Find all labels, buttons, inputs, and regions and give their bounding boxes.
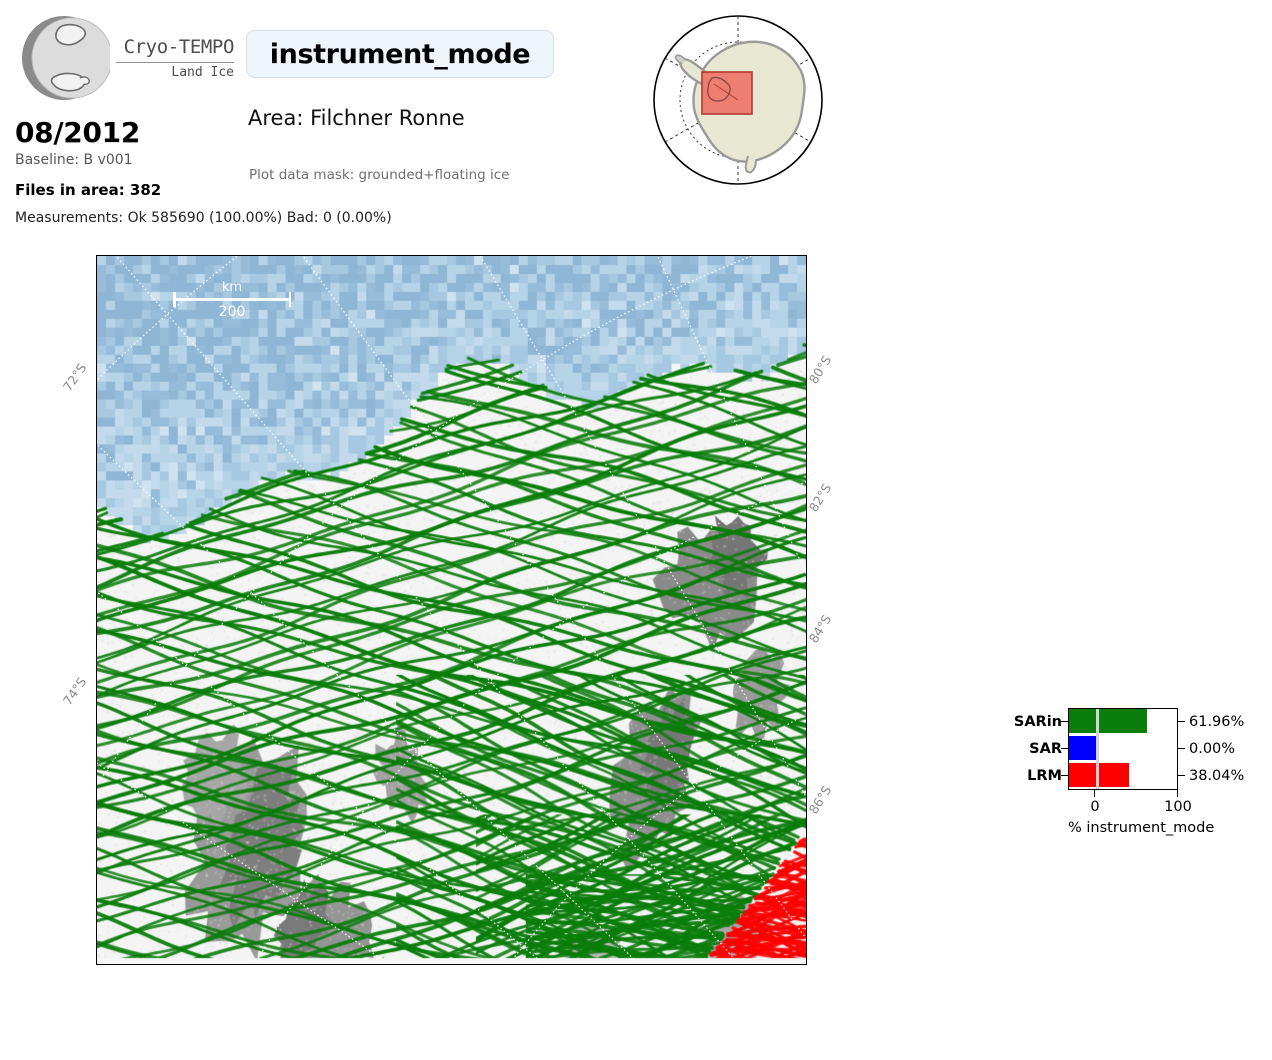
antarctica-locator-map xyxy=(652,14,824,186)
scale-unit-label: km xyxy=(222,280,242,295)
bar-swatch-1 xyxy=(1069,736,1096,760)
files-in-area-label: Files in area: 382 xyxy=(15,181,161,199)
logo-title: Cryo-TEMPO xyxy=(114,38,234,57)
logo-divider xyxy=(116,62,234,63)
xtick-label-0: 0 xyxy=(1090,799,1099,815)
map-scale-bar: km 200 xyxy=(173,284,291,301)
page-title-box: instrument_mode xyxy=(246,30,554,78)
lat-label-right-2: 84°S xyxy=(806,612,835,645)
ytick-right-2 xyxy=(1177,775,1185,776)
area-label: Area: Filchner Ronne xyxy=(248,106,465,130)
ytick-left-2 xyxy=(1061,775,1069,776)
scale-cap-right xyxy=(289,292,292,307)
bar-value-0: 61.96% xyxy=(1189,714,1244,730)
bar-2 xyxy=(1099,763,1129,787)
measurements-label: Measurements: Ok 585690 (100.00%) Bad: 0… xyxy=(15,210,392,226)
map-vector-layer xyxy=(97,256,806,964)
instrument-mode-bar-chart: SARin SAR LRM 61.96% 0.00% 38.04% 0 100 … xyxy=(996,700,1258,850)
scale-cap-left xyxy=(173,292,176,307)
bar-value-1: 0.00% xyxy=(1189,741,1235,757)
xtick-label-1: 100 xyxy=(1164,799,1192,815)
bar-0 xyxy=(1099,709,1147,733)
plot-data-mask-label: Plot data mask: grounded+floating ice xyxy=(249,167,509,183)
bar-swatch-0 xyxy=(1069,709,1096,733)
ytick-left-1 xyxy=(1061,748,1069,749)
cryo-tempo-logo: Cryo-TEMPO Land Ice xyxy=(18,12,228,107)
date-label: 08/2012 xyxy=(15,116,140,149)
page-title: instrument_mode xyxy=(270,39,530,70)
bar-chart-plot-area xyxy=(1068,708,1178,790)
graticule xyxy=(97,256,806,964)
bar-category-1: SAR xyxy=(992,741,1062,757)
bar-swatch-2 xyxy=(1069,763,1096,787)
bar-category-2: LRM xyxy=(992,768,1062,784)
ytick-right-0 xyxy=(1177,721,1185,722)
lat-label-left-1: 74°S xyxy=(60,675,90,708)
baseline-label: Baseline: B v001 xyxy=(15,152,133,168)
lat-label-left-0: 72°S xyxy=(60,361,90,394)
ytick-right-1 xyxy=(1177,748,1185,749)
bar-category-0: SARin xyxy=(992,714,1062,730)
globe-ice-icon xyxy=(18,12,110,104)
xtick-0 xyxy=(1094,790,1095,797)
xtick-1 xyxy=(1177,790,1178,797)
ytick-left-0 xyxy=(1061,721,1069,722)
scale-bar-line xyxy=(173,298,291,301)
lat-label-right-3: 86°S xyxy=(806,783,835,816)
bar-chart-xlabel: % instrument_mode xyxy=(1068,820,1178,836)
lat-label-right-0: 80°S xyxy=(806,353,835,386)
logo-subtitle: Land Ice xyxy=(114,66,234,79)
main-map[interactable]: km 200 xyxy=(96,255,807,965)
lat-label-right-1: 82°S xyxy=(806,481,835,514)
scale-value-label: 200 xyxy=(219,304,246,320)
bar-value-2: 38.04% xyxy=(1189,768,1244,784)
